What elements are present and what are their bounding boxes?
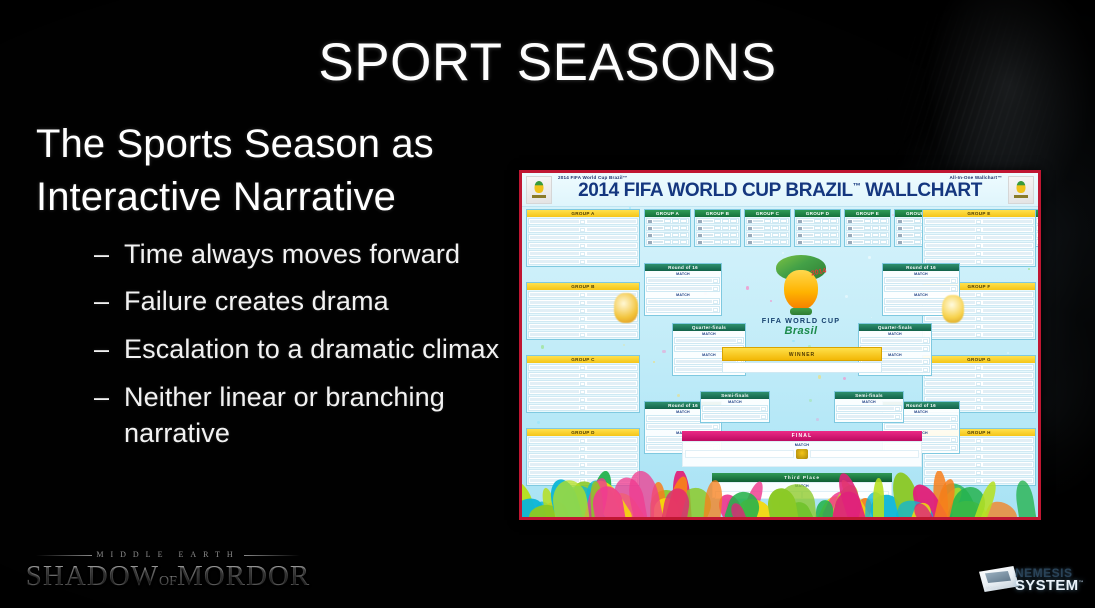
group-header: GROUP G xyxy=(923,356,1035,363)
standings-row xyxy=(746,232,789,238)
confetti-speck xyxy=(868,256,871,259)
group-block: GROUP D xyxy=(794,209,841,247)
match-label: MATCH xyxy=(701,399,769,404)
fixture-row xyxy=(528,234,638,241)
wallchart-title-suffix: WALLCHART xyxy=(865,180,982,201)
bullet-list: – Time always moves forward – Failure cr… xyxy=(36,236,516,453)
confetti-speck xyxy=(746,286,749,289)
knockout-row xyxy=(646,423,720,430)
knockout-header: Quarter-finals xyxy=(859,324,931,331)
logo-fifa-line: FIFA WORLD CUP xyxy=(755,316,847,325)
fixture-row xyxy=(528,323,638,330)
fixture-row xyxy=(528,380,638,387)
fixture-row xyxy=(528,242,638,249)
standings-row xyxy=(696,218,739,224)
system-line: SYSTEM™ xyxy=(1015,577,1085,594)
group-header: GROUP A xyxy=(527,210,639,217)
slide-title: SPORT SEASONS xyxy=(0,32,1095,93)
fixture-row xyxy=(528,258,638,265)
knockout-row xyxy=(836,413,902,420)
knockout-row xyxy=(884,285,958,292)
standings-row xyxy=(796,225,839,231)
match-label: MATCH xyxy=(673,331,745,336)
fixture-row xyxy=(924,461,1034,468)
list-item: – Escalation to a dramatic climax xyxy=(94,331,516,368)
nemesis-system-logo: MONOLITH NEMESIS SYSTEM™ xyxy=(979,554,1083,596)
fixture-row xyxy=(528,372,638,379)
final-team-slot xyxy=(810,450,919,458)
knockout-row xyxy=(860,337,930,344)
group-header: GROUP D xyxy=(795,210,840,217)
knockout-header: Round of 16 xyxy=(645,264,721,271)
knockout-row xyxy=(646,277,720,284)
bullet-dash-icon: – xyxy=(94,379,109,416)
match-label: MATCH xyxy=(835,399,903,404)
standings-row xyxy=(646,225,689,231)
logo-brasil-line: Brasil xyxy=(755,325,847,337)
group-header: GROUP B xyxy=(527,283,639,290)
fixture-row xyxy=(528,226,638,233)
group-header: GROUP C xyxy=(745,210,790,217)
slide-body-column: The Sports Season as Interactive Narrati… xyxy=(36,118,516,463)
confetti-speck xyxy=(537,421,540,424)
presentation-slide: SPORT SEASONS The Sports Season as Inter… xyxy=(0,0,1095,608)
knockout-header: Semi-finals xyxy=(701,392,769,399)
group-block: GROUP A xyxy=(526,209,640,267)
knockout-box: Semi-finalsMATCH xyxy=(834,391,904,423)
foliage-leaf xyxy=(1013,479,1036,517)
confetti-speck xyxy=(541,345,544,348)
trademark-mark: ™ xyxy=(853,182,861,191)
winner-bar: WINNER xyxy=(722,347,882,361)
trophy-icon xyxy=(796,449,808,459)
confetti-speck xyxy=(653,361,655,363)
fixture-row xyxy=(528,364,638,371)
group-block: GROUP A xyxy=(644,209,691,247)
knockout-row xyxy=(674,337,744,344)
fixture-row xyxy=(528,396,638,403)
knockout-row xyxy=(884,277,958,284)
group-header: GROUP B xyxy=(695,210,740,217)
fixture-row xyxy=(924,226,1034,233)
confetti-speck xyxy=(809,399,811,401)
match-label: MATCH xyxy=(859,331,931,336)
wallchart-canvas: 2014 FIFA World Cup Brazil™ All-In-One W… xyxy=(522,173,1038,517)
wallchart-title: 2014 FIFA WORLD CUP BRAZIL™ WALLCHART xyxy=(522,180,1038,202)
standings-row xyxy=(796,232,839,238)
fixture-row xyxy=(924,323,1034,330)
fixture-row xyxy=(924,364,1034,371)
foliage-leaf xyxy=(703,479,724,517)
standings-row xyxy=(846,218,889,224)
fixture-row xyxy=(528,445,638,452)
bullet-dash-icon: – xyxy=(94,331,109,368)
bullet-text: Time always moves forward xyxy=(124,239,460,269)
confetti-speck xyxy=(871,317,872,318)
monolith-icon-inner xyxy=(985,571,1011,583)
confetti-speck xyxy=(623,344,625,346)
monolith-icon: MONOLITH xyxy=(979,566,1019,592)
tropical-foliage xyxy=(522,471,1038,517)
standings-row xyxy=(646,218,689,224)
group-header: GROUP D xyxy=(527,429,639,436)
monolith-caption: MONOLITH xyxy=(981,586,1013,591)
trophy-hands-icon: 2014 xyxy=(773,255,829,313)
fixture-row xyxy=(528,437,638,444)
knockout-row xyxy=(884,423,958,430)
bullet-dash-icon: – xyxy=(94,283,109,320)
bullet-text: Neither linear or branching narrative xyxy=(124,382,445,449)
foliage-leaf xyxy=(873,478,884,517)
fixture-row xyxy=(924,250,1034,257)
knockout-row xyxy=(702,413,768,420)
fixture-row xyxy=(924,218,1034,225)
standings-row xyxy=(846,225,889,231)
standings-row xyxy=(746,225,789,231)
confetti-speck xyxy=(782,252,784,254)
fixture-row xyxy=(924,315,1034,322)
confetti-speck xyxy=(677,394,680,397)
logo-title-left: SHADOW xyxy=(26,560,159,592)
knockout-row xyxy=(646,285,720,292)
knockout-header: Quarter-finals xyxy=(673,324,745,331)
trademark-mark: ™ xyxy=(1078,580,1083,586)
mascot-figure xyxy=(614,293,638,323)
group-block: GROUP C xyxy=(744,209,791,247)
list-item: – Failure creates drama xyxy=(94,283,516,320)
bullet-dash-icon: – xyxy=(94,236,109,273)
standings-row xyxy=(746,218,789,224)
logo-title: SHADOWOFMORDOR xyxy=(18,560,318,593)
fixture-row xyxy=(924,380,1034,387)
system-text: SYSTEM xyxy=(1015,577,1078,594)
confetti-speck xyxy=(818,375,822,379)
bullet-text: Failure creates drama xyxy=(124,286,389,316)
standings-row xyxy=(696,232,739,238)
standings-row xyxy=(796,218,839,224)
group-header: GROUP E xyxy=(845,210,890,217)
final-match-label: MATCH xyxy=(683,442,921,447)
lead-statement: The Sports Season as Interactive Narrati… xyxy=(36,118,516,224)
group-header: GROUP A xyxy=(645,210,690,217)
list-item: – Time always moves forward xyxy=(94,236,516,273)
list-item: – Neither linear or branching narrative xyxy=(94,379,516,452)
group-block: GROUP B xyxy=(694,209,741,247)
logo-title-right: MORDOR xyxy=(177,560,310,592)
final-match-box: MATCH xyxy=(682,441,922,467)
fixture-row xyxy=(528,461,638,468)
shadow-of-mordor-logo: MIDDLE EARTH SHADOWOFMORDOR xyxy=(18,546,318,598)
knockout-header: Round of 16 xyxy=(883,264,959,271)
group-block: GROUP E xyxy=(922,209,1036,267)
nemesis-system-wordmark: NEMESIS SYSTEM™ xyxy=(1015,566,1085,594)
knockout-row xyxy=(702,405,768,412)
knockout-box: Round of 16MATCHMATCH xyxy=(644,263,722,316)
fixture-row xyxy=(528,453,638,460)
winner-slot xyxy=(722,362,882,373)
fixture-row xyxy=(924,388,1034,395)
fixture-row xyxy=(924,331,1034,338)
final-match-row xyxy=(685,448,919,459)
knockout-header: Semi-finals xyxy=(835,392,903,399)
mascot-figure xyxy=(942,295,964,323)
confetti-speck xyxy=(843,377,846,380)
match-label: MATCH xyxy=(645,292,721,297)
knockout-row xyxy=(646,298,720,305)
knockout-row xyxy=(646,306,720,313)
standings-row xyxy=(646,232,689,238)
world-cup-wallchart-image: 2014 FIFA World Cup Brazil™ All-In-One W… xyxy=(519,170,1041,520)
final-team-slot xyxy=(685,450,794,458)
group-header: GROUP E xyxy=(923,210,1035,217)
group-header: GROUP C xyxy=(527,356,639,363)
match-label: MATCH xyxy=(645,271,721,276)
world-cup-logo: 2014 FIFA WORLD CUP Brasil xyxy=(755,255,847,341)
group-block: GROUP E xyxy=(844,209,891,247)
logo-title-of: OF xyxy=(159,574,177,589)
fixture-row xyxy=(528,250,638,257)
fixture-row xyxy=(528,388,638,395)
wallchart-title-main: 2014 FIFA WORLD CUP BRAZIL xyxy=(578,180,853,201)
wallchart-header: 2014 FIFA World Cup Brazil™ All-In-One W… xyxy=(522,173,1038,207)
confetti-speck xyxy=(1007,352,1009,354)
confetti-speck xyxy=(816,418,819,421)
bullet-text: Escalation to a dramatic climax xyxy=(124,334,499,364)
fixture-row xyxy=(528,331,638,338)
fixture-row xyxy=(924,234,1034,241)
fixture-row xyxy=(924,453,1034,460)
confetti-speck xyxy=(662,350,665,353)
match-label: MATCH xyxy=(883,271,959,276)
group-block: GROUP C xyxy=(526,355,640,413)
standings-row xyxy=(846,232,889,238)
fixture-row xyxy=(528,218,638,225)
final-header: FINAL xyxy=(682,431,922,441)
fixture-row xyxy=(924,242,1034,249)
fixture-row xyxy=(528,404,638,411)
logo-supertitle: MIDDLE EARTH xyxy=(18,550,318,559)
confetti-speck xyxy=(1028,268,1030,270)
fixture-row xyxy=(924,372,1034,379)
knockout-box: Semi-finalsMATCH xyxy=(700,391,770,423)
knockout-row xyxy=(836,405,902,412)
standings-row xyxy=(696,225,739,231)
